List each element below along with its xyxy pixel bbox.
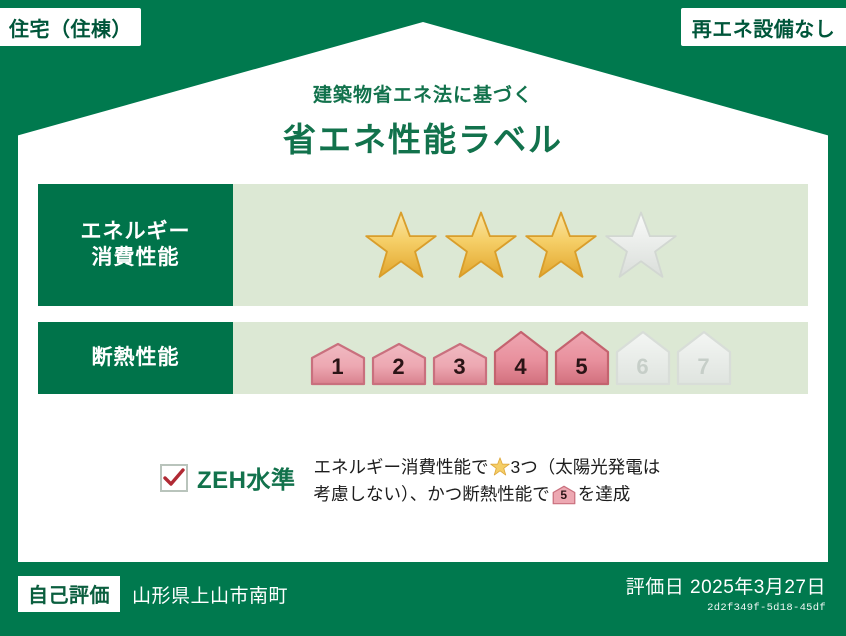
zeh-checkbox[interactable] bbox=[160, 464, 188, 492]
grade-number-5: 5 bbox=[553, 354, 611, 380]
grade-number-4: 4 bbox=[492, 354, 550, 380]
title-block: 建築物省エネ法に基づく 省エネ性能ラベル bbox=[0, 80, 846, 161]
insulation-performance-value: 1 2 3 bbox=[233, 322, 808, 394]
label-subtitle: 建築物省エネ法に基づく bbox=[0, 80, 846, 107]
insulation-performance-row: 断熱性能 1 bbox=[38, 322, 808, 394]
zeh-desc-part1: エネルギー消費性能で bbox=[314, 457, 489, 477]
zeh-standard-label: ZEH水準 bbox=[197, 460, 296, 495]
energy-performance-value bbox=[233, 184, 808, 306]
footer: 自己評価 山形県上山市南町 評価日 2025年3月27日 2d2f349f-5d… bbox=[0, 562, 846, 636]
energy-label: 住宅（住棟） 再エネ設備なし 建築物省エネ法に基づく 省エネ性能ラベル エネルギ… bbox=[0, 0, 846, 636]
property-address: 山形県上山市南町 bbox=[132, 581, 288, 608]
evaluation-id: 2d2f349f-5d18-45df bbox=[626, 602, 826, 614]
zeh-desc-part3: を達成 bbox=[578, 484, 631, 504]
grade-number-1: 1 bbox=[309, 354, 367, 380]
evaluation-type-badge: 自己評価 bbox=[18, 576, 120, 612]
check-icon bbox=[163, 468, 185, 488]
insulation-grade-3: 3 bbox=[431, 342, 489, 386]
grade-number-3: 3 bbox=[431, 354, 489, 380]
footer-right: 評価日 2025年3月27日 2d2f349f-5d18-45df bbox=[626, 572, 826, 614]
star-icon-filled-3 bbox=[524, 209, 598, 281]
page-title: 省エネ性能ラベル bbox=[0, 113, 846, 161]
insulation-grade-scale: 1 2 3 bbox=[309, 330, 733, 386]
star-rating bbox=[364, 209, 678, 281]
footer-left: 自己評価 山形県上山市南町 bbox=[18, 576, 288, 612]
star-icon-filled-1 bbox=[364, 209, 438, 281]
insulation-grade-6: 6 bbox=[614, 330, 672, 386]
zeh-checkbox-group: ZEH水準 bbox=[160, 450, 296, 495]
insulation-grade-2: 2 bbox=[370, 342, 428, 386]
renewable-energy-tag: 再エネ設備なし bbox=[681, 8, 846, 46]
insulation-grade-7: 7 bbox=[675, 330, 733, 386]
inline-grade-badge: 5 bbox=[552, 485, 576, 505]
energy-performance-row: エネルギー 消費性能 bbox=[38, 184, 808, 306]
insulation-performance-label: 断熱性能 bbox=[38, 322, 233, 394]
inline-star-icon bbox=[490, 457, 510, 476]
zeh-description: エネルギー消費性能で3つ（太陽光発電は考慮しない）、かつ断熱性能で5を達成 bbox=[314, 450, 674, 508]
inline-grade-number: 5 bbox=[552, 486, 576, 505]
rating-rows: エネルギー 消費性能 bbox=[38, 184, 808, 410]
evaluation-date: 評価日 2025年3月27日 bbox=[626, 572, 826, 599]
insulation-grade-5: 5 bbox=[553, 330, 611, 386]
energy-performance-label: エネルギー 消費性能 bbox=[38, 184, 233, 306]
insulation-grade-4: 4 bbox=[492, 330, 550, 386]
grade-number-6: 6 bbox=[614, 354, 672, 380]
insulation-grade-1: 1 bbox=[309, 342, 367, 386]
star-icon-empty-4 bbox=[604, 209, 678, 281]
star-icon-filled-2 bbox=[444, 209, 518, 281]
zeh-desc-star-count: 3つ（太陽光発電 bbox=[511, 457, 643, 477]
grade-number-7: 7 bbox=[675, 354, 733, 380]
energy-label-line1: エネルギー bbox=[81, 220, 191, 243]
building-type-tag: 住宅（住棟） bbox=[0, 8, 141, 46]
energy-label-line2: 消費性能 bbox=[92, 246, 180, 269]
zeh-section: ZEH水準 エネルギー消費性能で3つ（太陽光発電は考慮しない）、かつ断熱性能で5… bbox=[160, 450, 674, 508]
grade-number-2: 2 bbox=[370, 354, 428, 380]
